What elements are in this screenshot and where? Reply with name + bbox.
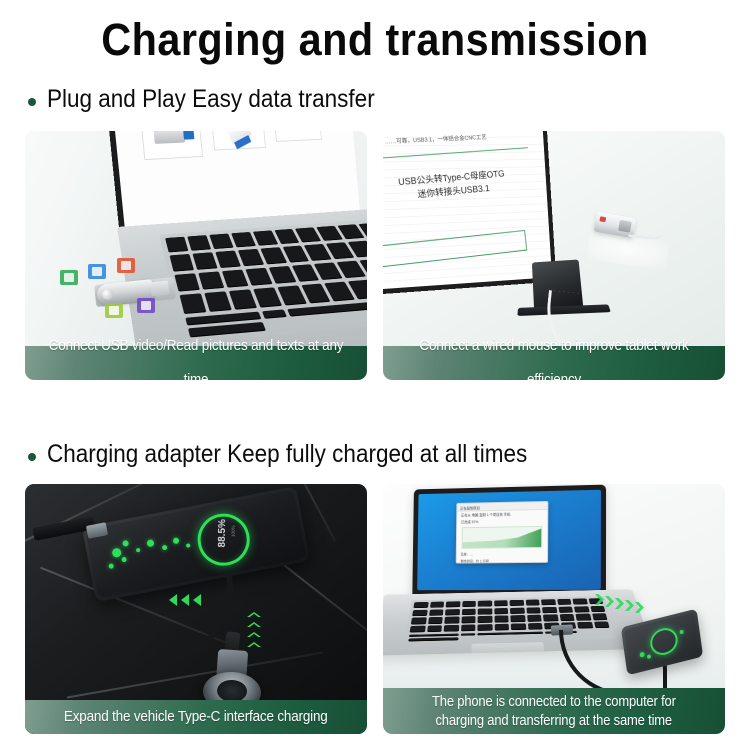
charge-bubble [162,545,168,551]
laptop-keyboard [159,216,367,343]
laptop-display: 正在复制项目 正在从 电脑 复制 1 个项目到 手机 已完成 57% 名称：… … [417,490,601,590]
charge-bubble [679,629,683,634]
section-title-1: Plug and Play Easy data transfer [47,85,375,114]
section-heading-2: Charging adapter Keep fully charged at a… [28,440,581,469]
charge-bubble [121,557,127,563]
section-heading-1: Plug and Play Easy data transfer [28,85,411,114]
caption-line-1: The phone is connected to the computer f… [432,692,676,711]
section-title-2: Charging adapter Keep fully charged at a… [47,440,527,469]
marketing-page: Charging and transmission Plug and Play … [0,0,750,750]
file-transfer-dialog: 正在复制项目 正在从 电脑 复制 1 个项目到 手机 已完成 57% 名称：… … [456,501,549,564]
battery-percent: 88.5% [217,513,229,553]
caption-text: Expand the vehicle Type-C interface char… [64,700,328,734]
panel-caption-2: Connect a wired mouse to improve tablet … [383,346,725,380]
panel-phone-to-computer[interactable]: 正在复制项目 正在从 电脑 复制 1 个项目到 手机 已完成 57% 名称：… … [383,484,725,734]
laptop-trackpad [471,642,544,653]
file-icon-red [117,258,135,273]
panel-caption-1: Connect USB video/Read pictures and text… [25,346,367,380]
file-icon-purple [137,298,155,313]
charge-bubble [186,543,191,548]
charge-bubble [647,654,651,659]
file-icon-lime [105,303,123,318]
charge-bubble [108,563,114,569]
file-icon-green [60,270,78,285]
page-title: Charging and transmission [30,14,720,66]
dialog-footer-2: 剩余时间：约 1 分钟 [457,557,547,564]
file-icon-blue [88,264,106,279]
dialog-line-2: 已完成 57% [457,517,547,525]
panel-caption-4: The phone is connected to the computer f… [383,688,725,734]
caption-text: Connect a wired mouse to improve tablet … [395,329,713,380]
caption-text: The phone is connected to the computer f… [423,692,685,730]
adapter-cable [628,221,663,240]
battery-sub-label: 100% [230,516,236,546]
tablet-device: ……可靠，USB3.1，一体铝合金CNC工艺 USB公头转Type-C母座OTG… [383,131,556,295]
screen-thumbnail [211,131,266,151]
bullet-dot-icon [28,453,36,461]
charge-bubble [146,539,154,547]
caption-line-2: charging and transferring at the same ti… [436,711,672,730]
screen-thumbnail [274,131,322,142]
bullet-dot-icon [28,98,36,106]
charge-bubble [639,652,645,658]
panel-car-charging[interactable]: 88.5% 100% Expand the vehicle Type-C int… [25,484,367,734]
battery-ring-icon [649,625,680,658]
usb-adapter-icon [226,131,252,145]
charge-bubble [111,548,122,559]
laptop-screen: 正在复制项目 正在从 电脑 复制 1 个项目到 手机 已完成 57% 名称：… … [412,485,606,598]
panel-caption-3: Expand the vehicle Type-C interface char… [25,700,367,734]
panel-tablet-mouse[interactable]: ……可靠，USB3.1，一体铝合金CNC工艺 USB公头转Type-C母座OTG… [383,131,725,380]
photo-car-charging: 88.5% 100% [25,484,367,734]
caption-text: Connect USB video/Read pictures and text… [37,329,355,380]
charge-bubble [136,548,141,553]
screen-thumbnail [141,131,203,160]
charge-bubble [122,540,129,547]
panel-usb-laptop[interactable]: Connect USB video/Read pictures and text… [25,131,367,380]
charge-bubble [172,537,179,544]
usb-connector-icon [153,131,185,144]
transfer-progress-graph [462,526,543,549]
